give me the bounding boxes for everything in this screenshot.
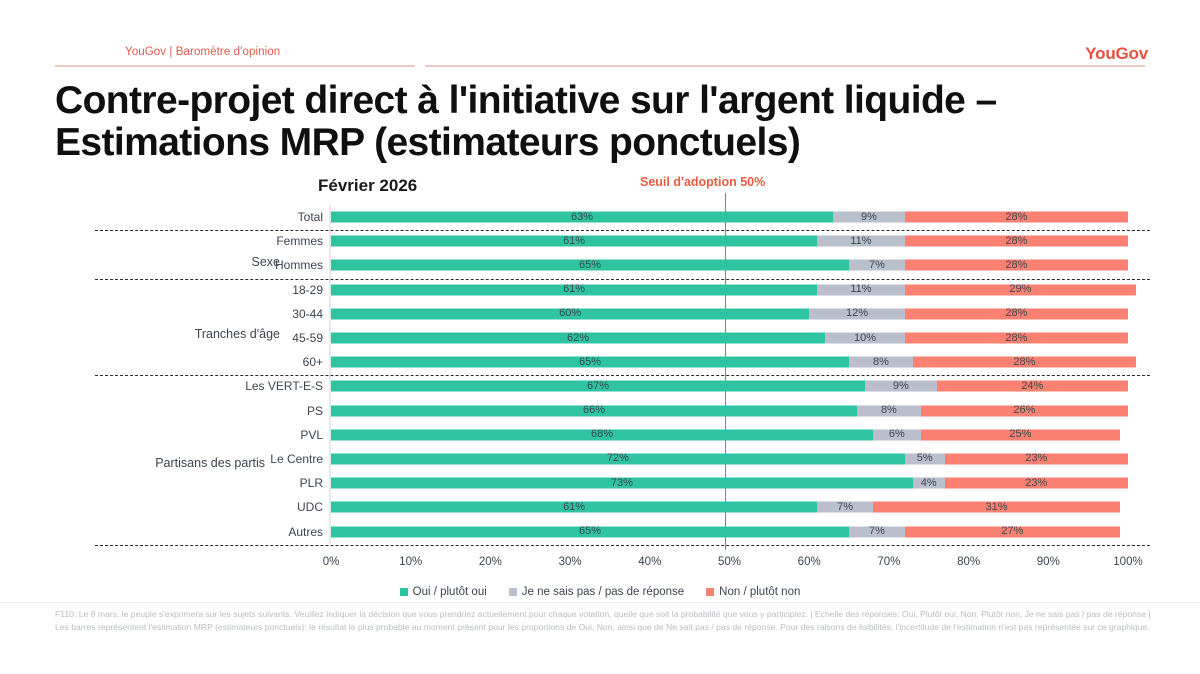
x-axis-tick: 30% (559, 556, 582, 568)
row-label: 18-29 (292, 283, 323, 297)
row-label: PLR (300, 476, 323, 490)
bar-value-label: 27% (1001, 526, 1023, 537)
bar-segment-yes: 65% (331, 526, 849, 537)
legend-swatch-icon (400, 588, 408, 596)
bar-segment-yes: 67% (331, 381, 865, 392)
bar-value-label: 10% (854, 333, 876, 344)
bar-value-label: 61% (563, 502, 585, 513)
group-label: Partisans des partis (155, 456, 265, 470)
legend-swatch-icon (509, 588, 517, 596)
bar-value-label: 12% (846, 308, 868, 319)
bar-segment-yes: 63% (331, 212, 833, 223)
bar-value-label: 28% (1005, 333, 1027, 344)
bar-value-label: 29% (1009, 284, 1031, 295)
bar-segment-yes: 62% (331, 333, 825, 344)
bar-value-label: 8% (873, 357, 889, 368)
bar-value-label: 28% (1005, 260, 1027, 271)
bar-segment-no: 25% (921, 429, 1120, 440)
bar-segment-no: 31% (873, 502, 1120, 513)
page-header: YouGov | Baromètre d'opinion YouGov (0, 0, 1200, 72)
bar-value-label: 65% (579, 526, 601, 537)
bar-value-label: 9% (861, 212, 877, 223)
bar-value-label: 61% (563, 284, 585, 295)
legend-item[interactable]: Je ne sais pas / pas de réponse (509, 586, 684, 598)
bar-segment-yes: 68% (331, 429, 873, 440)
bar-value-label: 62% (567, 333, 589, 344)
bar-value-label: 9% (893, 381, 909, 392)
stacked-bar: 61%11%28% (331, 236, 1128, 247)
bar-value-label: 4% (921, 478, 937, 489)
group-label: Tranches d'âge (195, 327, 280, 341)
table-row: 18-2961%11%29% (0, 278, 1200, 302)
stacked-bar: 63%9%28% (331, 212, 1128, 223)
bar-value-label: 68% (591, 429, 613, 440)
stacked-bar: 68%6%25% (331, 429, 1128, 440)
bar-segment-yes: 73% (331, 478, 913, 489)
brand-label: YouGov | Baromètre d'opinion (125, 46, 280, 58)
x-axis-tick: 70% (877, 556, 900, 568)
bar-segment-dk: 12% (809, 308, 905, 319)
yougov-logo: YouGov (1085, 44, 1148, 64)
bar-segment-yes: 65% (331, 357, 849, 368)
chart-legend: Oui / plutôt ouiJe ne sais pas / pas de … (0, 586, 1200, 598)
x-axis-tick: 60% (798, 556, 821, 568)
bar-value-label: 67% (587, 381, 609, 392)
row-label: 45-59 (292, 331, 323, 345)
bar-segment-yes: 66% (331, 405, 857, 416)
bar-segment-no: 24% (937, 381, 1128, 392)
x-axis-tick: 50% (718, 556, 741, 568)
stacked-bar: 65%7%28% (331, 260, 1128, 271)
bar-segment-no: 28% (905, 333, 1128, 344)
x-axis-tick: 90% (1037, 556, 1060, 568)
table-row: 60+65%8%28% (0, 350, 1200, 374)
bar-value-label: 28% (1005, 236, 1027, 247)
row-label: Autres (288, 525, 323, 539)
bar-segment-no: 28% (913, 357, 1136, 368)
title-block: Contre-projet direct à l'initiative sur … (55, 80, 1055, 164)
bar-value-label: 11% (850, 284, 871, 295)
table-row: PVL68%6%25% (0, 423, 1200, 447)
bar-segment-dk: 8% (849, 357, 913, 368)
table-row: Les VERT-E-S67%9%24% (0, 374, 1200, 398)
stacked-bar: 60%12%28% (331, 308, 1128, 319)
stacked-bar: 73%4%23% (331, 478, 1128, 489)
stacked-bar: 62%10%28% (331, 333, 1128, 344)
legend-item[interactable]: Non / plutôt non (706, 586, 800, 598)
x-axis-tick: 80% (957, 556, 980, 568)
group-separator (95, 279, 1150, 280)
bar-value-label: 23% (1025, 453, 1047, 464)
bar-value-label: 60% (559, 308, 581, 319)
bar-segment-dk: 4% (913, 478, 945, 489)
x-axis-tick: 0% (323, 556, 340, 568)
legend-label: Je ne sais pas / pas de réponse (522, 586, 684, 598)
bar-segment-no: 28% (905, 260, 1128, 271)
bar-value-label: 24% (1021, 381, 1043, 392)
bar-rows: Total63%9%28%Femmes61%11%28%Hommes65%7%2… (0, 205, 1200, 544)
bar-value-label: 6% (889, 429, 905, 440)
bar-segment-yes: 72% (331, 453, 905, 464)
legend-item[interactable]: Oui / plutôt oui (400, 586, 487, 598)
table-row: 30-4460%12%28% (0, 302, 1200, 326)
x-axis-tick: 20% (479, 556, 502, 568)
bar-value-label: 7% (837, 502, 853, 513)
bar-segment-yes: 61% (331, 502, 817, 513)
header-rule-right (425, 65, 1145, 67)
stacked-bar: 61%7%31% (331, 502, 1128, 513)
table-row: PLR73%4%23% (0, 471, 1200, 495)
bar-value-label: 65% (579, 357, 601, 368)
stacked-bar: 65%7%27% (331, 526, 1128, 537)
bar-segment-dk: 7% (817, 502, 873, 513)
stacked-bar: 66%8%26% (331, 405, 1128, 416)
threshold-annotation-label: Seuil d'adoption 50% (640, 175, 765, 189)
bar-value-label: 63% (571, 212, 593, 223)
group-separator (95, 230, 1150, 231)
row-label: Femmes (276, 234, 323, 248)
bar-segment-yes: 61% (331, 284, 817, 295)
stacked-bar: 65%8%28% (331, 357, 1128, 368)
chart-subtitle: Février 2026 (318, 176, 417, 196)
bar-segment-no: 29% (905, 284, 1136, 295)
row-label: PVL (300, 428, 323, 442)
bar-value-label: 11% (850, 236, 871, 247)
row-label: PS (307, 404, 323, 418)
chart-plot-area: Total63%9%28%Femmes61%11%28%Hommes65%7%2… (0, 205, 1200, 555)
bar-value-label: 7% (869, 260, 885, 271)
bar-value-label: 23% (1025, 478, 1047, 489)
bar-value-label: 65% (579, 260, 601, 271)
bar-value-label: 28% (1005, 212, 1027, 223)
footnote-text: F110: Le 8 mars, le peuple s'exprimera s… (55, 608, 1160, 634)
row-label: 30-44 (292, 307, 323, 321)
footer-divider (0, 602, 1200, 603)
row-label: Le Centre (270, 452, 323, 466)
row-label: Les VERT-E-S (245, 379, 323, 393)
table-row: Autres65%7%27% (0, 519, 1200, 543)
table-row: PS66%8%26% (0, 399, 1200, 423)
bar-segment-no: 28% (905, 212, 1128, 223)
x-axis-tick: 10% (399, 556, 422, 568)
bar-segment-no: 28% (905, 236, 1128, 247)
table-row: Hommes65%7%28% (0, 253, 1200, 277)
bar-segment-yes: 65% (331, 260, 849, 271)
bar-value-label: 61% (563, 236, 585, 247)
bar-segment-yes: 61% (331, 236, 817, 247)
page-title: Contre-projet direct à l'initiative sur … (55, 80, 1030, 164)
group-separator (95, 545, 1150, 546)
bar-value-label: 73% (611, 478, 633, 489)
row-label: UDC (297, 500, 323, 514)
header-rule-left (55, 65, 415, 67)
bar-value-label: 66% (583, 405, 605, 416)
bar-segment-yes: 60% (331, 308, 809, 319)
bar-segment-no: 27% (905, 526, 1120, 537)
bar-value-label: 25% (1009, 429, 1031, 440)
bar-value-label: 72% (607, 453, 629, 464)
legend-label: Oui / plutôt oui (413, 586, 487, 598)
stacked-bar: 61%11%29% (331, 284, 1128, 295)
bar-segment-no: 26% (921, 405, 1128, 416)
table-row: 45-5962%10%28% (0, 326, 1200, 350)
bar-value-label: 7% (869, 526, 885, 537)
bar-value-label: 26% (1013, 405, 1035, 416)
legend-label: Non / plutôt non (719, 586, 800, 598)
bar-segment-dk: 11% (817, 284, 905, 295)
bar-segment-dk: 7% (849, 526, 905, 537)
bar-segment-dk: 7% (849, 260, 905, 271)
stacked-bar: 67%9%24% (331, 381, 1128, 392)
table-row: Femmes61%11%28% (0, 229, 1200, 253)
row-label: Hommes (275, 258, 323, 272)
bar-segment-dk: 6% (873, 429, 921, 440)
bar-segment-no: 28% (905, 308, 1128, 319)
bar-segment-dk: 5% (905, 453, 945, 464)
bar-segment-dk: 11% (817, 236, 905, 247)
legend-swatch-icon (706, 588, 714, 596)
x-axis-tick: 40% (638, 556, 661, 568)
bar-value-label: 28% (1013, 357, 1035, 368)
bar-segment-dk: 8% (857, 405, 921, 416)
table-row: UDC61%7%31% (0, 495, 1200, 519)
bar-segment-dk: 9% (865, 381, 937, 392)
bar-value-label: 5% (917, 453, 933, 464)
bar-value-label: 8% (881, 405, 897, 416)
row-label: Total (298, 210, 323, 224)
bar-value-label: 28% (1005, 308, 1027, 319)
group-label: Sexe (252, 255, 281, 269)
bar-segment-no: 23% (945, 453, 1128, 464)
table-row: Total63%9%28% (0, 205, 1200, 229)
row-label: 60+ (303, 355, 323, 369)
bar-segment-no: 23% (945, 478, 1128, 489)
bar-segment-dk: 10% (825, 333, 905, 344)
bar-segment-dk: 9% (833, 212, 905, 223)
x-axis-tick: 100% (1113, 556, 1142, 568)
group-separator (95, 375, 1150, 376)
stacked-bar: 72%5%23% (331, 453, 1128, 464)
bar-value-label: 31% (985, 502, 1007, 513)
x-axis: 0%10%20%30%40%50%60%70%80%90%100% (331, 556, 1128, 572)
